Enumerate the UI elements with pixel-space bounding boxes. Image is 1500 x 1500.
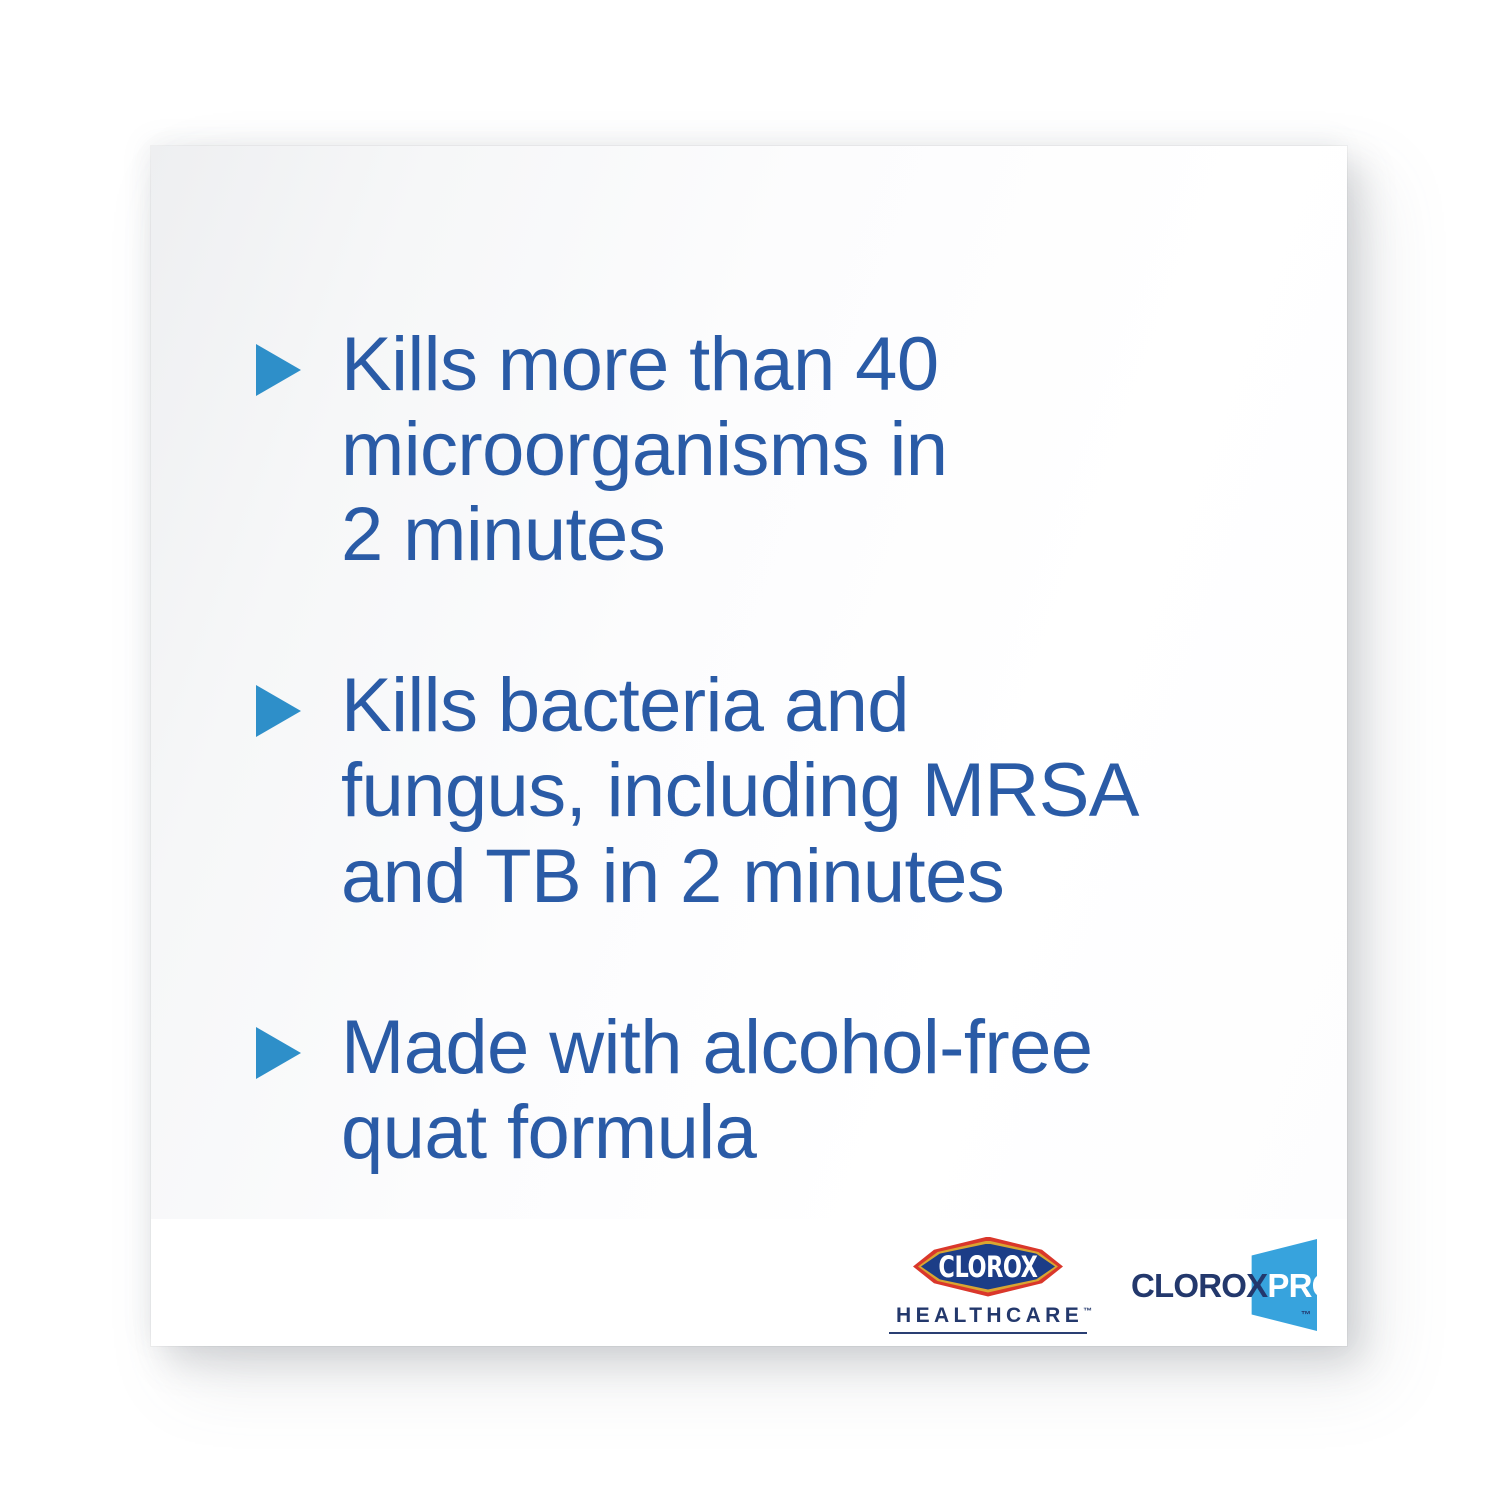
feature-bullet-list: Kills more than 40 microorganisms in 2 m…	[256, 322, 1296, 1175]
triangle-bullet-icon	[256, 344, 304, 400]
cloroxpro-trademark: ™	[1301, 1310, 1311, 1321]
clorox-brand-wordmark: CLOROX	[924, 1237, 1053, 1297]
feature-bullet-text: Kills bacteria and fungus, including MRS…	[341, 663, 1296, 918]
feature-bullet-text: Made with alcohol-free quat formula	[341, 1005, 1296, 1175]
list-item: Kills more than 40 microorganisms in 2 m…	[256, 322, 1296, 577]
cloroxpro-brand-label: CLOROX	[1131, 1267, 1267, 1304]
product-feature-card: Kills more than 40 microorganisms in 2 m…	[151, 146, 1347, 1346]
list-item: Made with alcohol-free quat formula	[256, 1005, 1296, 1175]
card-content-panel: Kills more than 40 microorganisms in 2 m…	[151, 146, 1347, 1219]
cloroxpro-logo: CLOROXPRO ™	[1131, 1237, 1317, 1333]
healthcare-lockup: HEALTHCARE™	[889, 1304, 1087, 1328]
cloroxpro-wordmark: CLOROXPRO	[1131, 1267, 1317, 1305]
clorox-diamond-icon: CLOROX	[913, 1237, 1063, 1297]
triangle-bullet-icon	[256, 685, 304, 741]
triangle-bullet-icon	[256, 1027, 304, 1083]
healthcare-label: HEALTHCARE	[896, 1304, 1083, 1327]
list-item: Kills bacteria and fungus, including MRS…	[256, 663, 1296, 918]
cloroxpro-suffix-label: PRO	[1267, 1267, 1336, 1304]
page-root: Kills more than 40 microorganisms in 2 m…	[0, 0, 1500, 1500]
brand-logo-strip: CLOROX HEALTHCARE™ CLOROXPRO ™	[889, 1226, 1317, 1344]
healthcare-wordmark: HEALTHCARE™	[896, 1304, 1092, 1328]
feature-bullet-text: Kills more than 40 microorganisms in 2 m…	[341, 322, 1296, 577]
clorox-healthcare-logo: CLOROX HEALTHCARE™	[889, 1237, 1087, 1334]
healthcare-trademark: ™	[1083, 1306, 1092, 1316]
healthcare-underline	[889, 1332, 1087, 1334]
